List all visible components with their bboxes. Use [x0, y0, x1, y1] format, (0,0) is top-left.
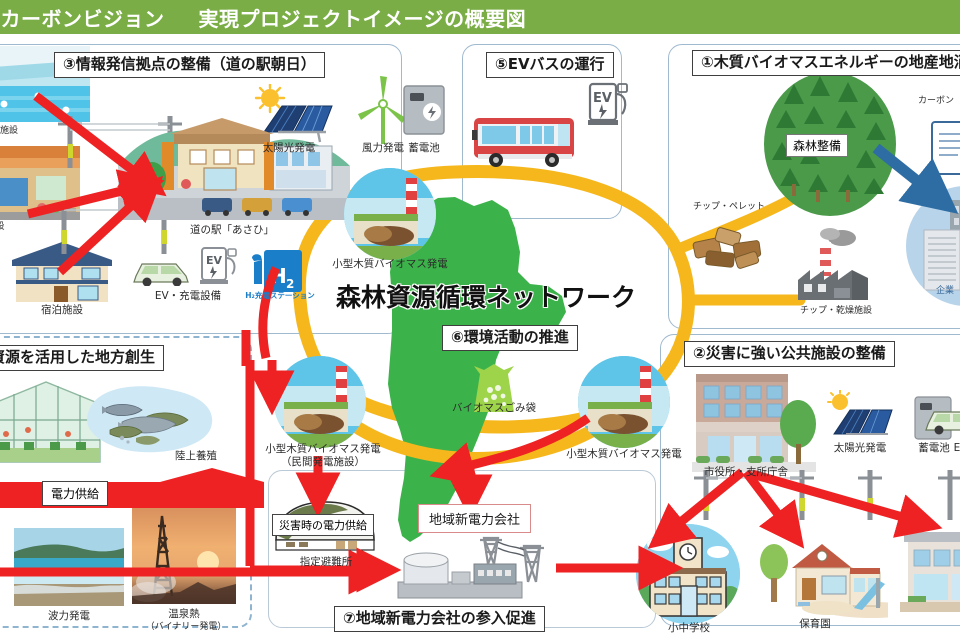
school-label: 小中学校 [656, 622, 722, 634]
page-title-part1: ロカーボンビジョン [0, 3, 165, 32]
panel-label-6: ⑥環境活動の推進 [442, 325, 578, 351]
roadside-station-label: 道の駅「あさひ」 [172, 224, 292, 236]
ev-bus-icon [472, 110, 580, 172]
hotspring-label-line1: 温泉熱 [144, 608, 224, 620]
forest-maintenance-label: 森林整備 [786, 134, 848, 157]
solar-label-2: 太陽光発電 [822, 442, 898, 454]
biomass-bag-label: バイオマスごみ袋 [424, 402, 564, 414]
solar-label: 太陽光発電 [254, 142, 324, 154]
hotspring-label-line2: （バイナリー発電） [134, 622, 238, 632]
h2-station-icon: H 2 [250, 248, 308, 294]
panel-label-5: ⑤EVバスの運行 [486, 52, 614, 78]
panel-label-4: ネ資源を活用した地方創生 [0, 345, 164, 371]
ev-charge-label: EV・充電設備 [138, 290, 238, 302]
svg-text:EV: EV [206, 254, 223, 267]
ev-charger-icon: EV [198, 246, 244, 288]
page-title-part2: 実現プロジェクトイメージの概要図 [199, 3, 527, 32]
shelter-label: 指定避難所 [284, 556, 368, 568]
hotspring-photo [132, 500, 236, 604]
pool-facility-label: 施設 [0, 126, 34, 136]
network-title: 森林資源循環ネットワーク [336, 278, 636, 314]
chip-dry-facility-label: チップ・乾燥施設 [782, 306, 890, 316]
biomass-plant-label-2-line1: 小型木質バイオマス発電 [258, 443, 388, 455]
company-label: 企業 [920, 286, 960, 296]
ev-car-icon [132, 252, 194, 286]
svg-text:EV: EV [593, 91, 612, 106]
ev-label-2: E [946, 442, 960, 454]
panel-label-3: ③情報発信拠点の整備（道の駅朝日） [54, 52, 325, 78]
solar-panel-icon-2 [826, 390, 902, 442]
infographic-canvas: ロカーボンビジョン 実現プロジェクトイメージの概要図 ③情報発信拠点の整備（道の… [0, 0, 960, 640]
public-building-icon [900, 526, 960, 618]
biomass-plant-label-1: 小型木質バイオマス発電 [320, 258, 460, 270]
panel-label-7: ⑦地域新電力会社の参入促進 [334, 606, 545, 632]
biomass-plant-label-2-line2: （民間発電施設） [258, 456, 388, 468]
wave-power-label: 波力発電 [28, 610, 110, 622]
new-power-company-label: 地域新電力会社 [418, 504, 531, 533]
ev-car-icon-2 [924, 400, 960, 438]
h2-station-label: H₂充電ステーション [240, 292, 320, 301]
utility-poles-right-2 [854, 466, 960, 522]
biomass-plant-circle-3 [578, 356, 670, 448]
biomass-plant-circle-2 [274, 356, 366, 448]
nursery-label: 保育園 [788, 618, 842, 630]
battery-label: 蓄電池 [398, 142, 450, 154]
chip-pellet-label: チップ・ペレット [684, 202, 774, 212]
lodging-label: 宿泊施設 [22, 304, 102, 316]
school-circle [636, 524, 740, 624]
carbon-credit-doc-icon [930, 120, 960, 176]
chip-dry-facility-icon [790, 222, 882, 304]
battery-icon [400, 82, 448, 140]
carbon-credit-label: カーボン [918, 96, 960, 106]
aquaculture-label: 陸上養殖 [166, 450, 226, 462]
ev-bus-charger-icon: EV [586, 82, 634, 134]
svg-text:H: H [270, 264, 287, 288]
panel-label-1: ①木質バイオマスエネルギーの地産地消 [692, 50, 960, 76]
power-substation-icon [394, 530, 550, 602]
roadside-station-icon [118, 112, 350, 220]
nursery-icon [758, 524, 888, 618]
chip-pellet-icon [690, 218, 770, 270]
disaster-power-supply-label: 災害時の電力供給 [272, 514, 374, 536]
biomass-plant-circle-1 [344, 168, 436, 260]
city-hall-icon [692, 372, 816, 472]
city-hall-label: 市役所・支所庁舎 [686, 466, 806, 478]
panel-label-2: ②災害に強い公共施設の整備 [684, 341, 895, 367]
wave-power-photo [14, 528, 124, 606]
power-supply-label: 電力供給 [42, 481, 108, 506]
page-title-bar: ロカーボンビジョン 実現プロジェクトイメージの概要図 [0, 0, 960, 34]
biomass-plant-label-3: 小型木質バイオマス発電 [554, 448, 694, 460]
hotspring-facility-label: 設 [0, 222, 20, 232]
svg-text:2: 2 [286, 277, 294, 291]
